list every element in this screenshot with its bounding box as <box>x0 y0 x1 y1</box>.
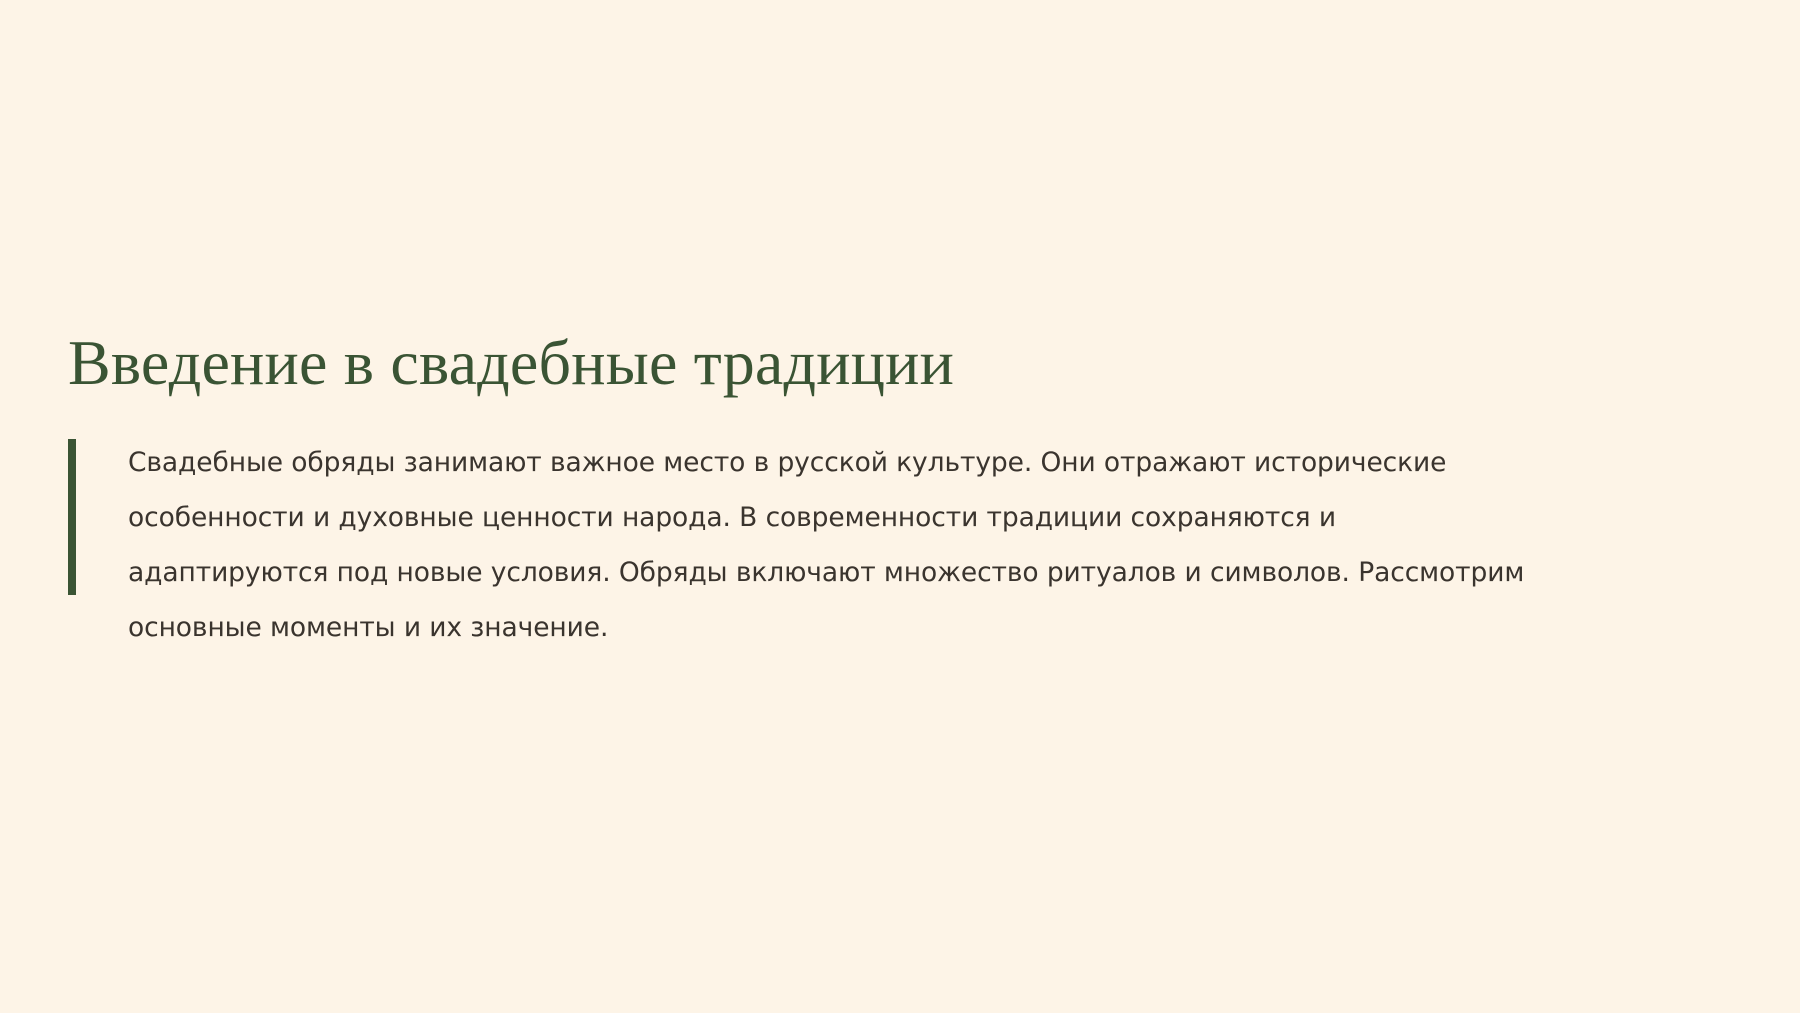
body-text-container: Свадебные обряды занимают важное место в… <box>68 435 1708 655</box>
accent-bar <box>68 439 76 595</box>
page-title: Введение в свадебные традиции <box>68 325 1708 401</box>
slide-content-block: Введение в свадебные традиции Свадебные … <box>68 325 1708 655</box>
body-paragraph: Свадебные обряды занимают важное место в… <box>128 435 1543 655</box>
slide-canvas: Введение в свадебные традиции Свадебные … <box>0 0 1800 1013</box>
